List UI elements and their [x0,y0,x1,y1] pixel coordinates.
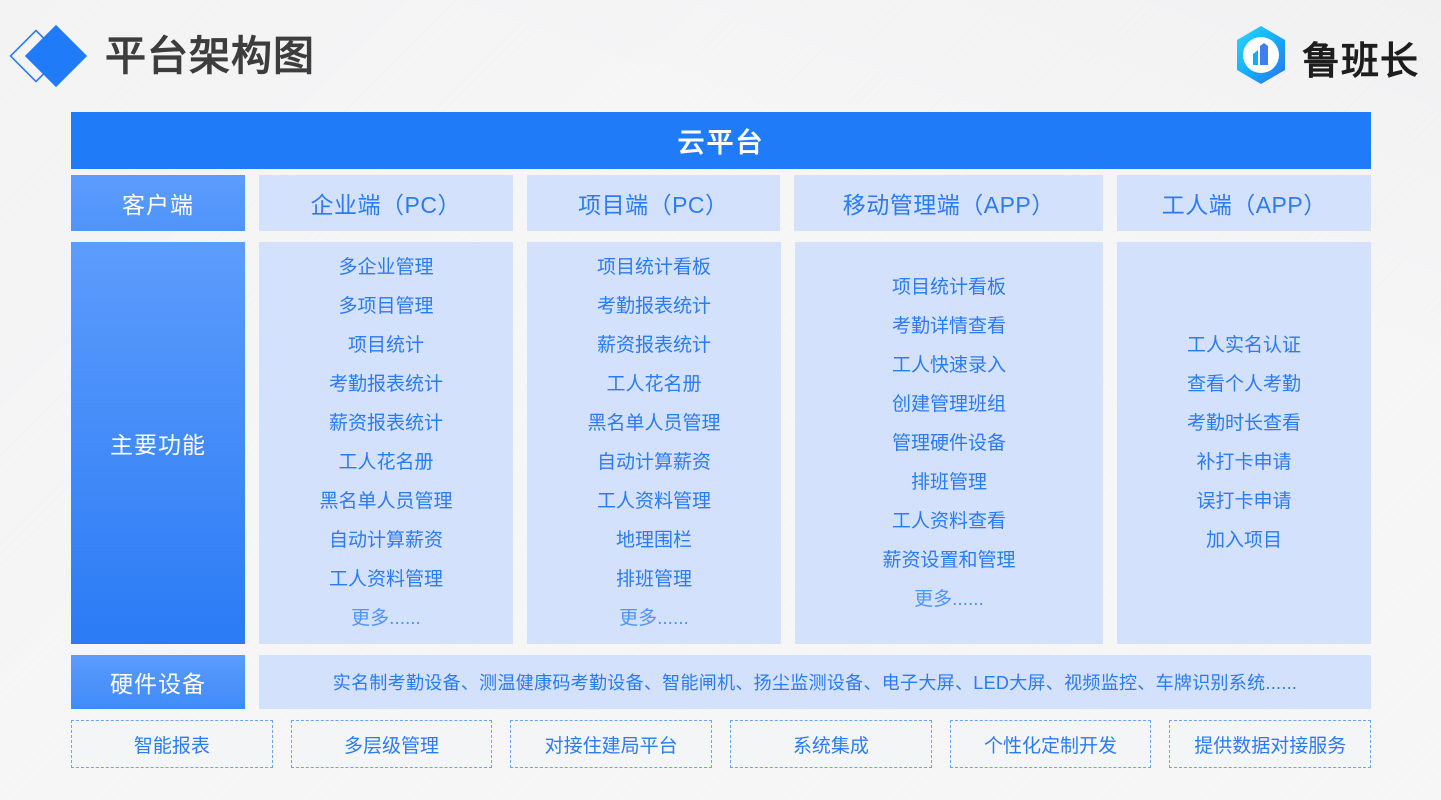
service-chip-govt-platform-integration[interactable]: 对接住建局平台 [510,720,712,768]
service-chip-multilevel-management-label: 多层级管理 [344,731,439,758]
sidebar-label-hardware-text: 硬件设备 [110,665,206,699]
column-header-worker: 工人端（APP） [1117,175,1371,231]
list-item: 排班管理 [616,560,692,599]
hardware-device-list-text: 实名制考勤设备、测温健康码考勤设备、智能闸机、扬尘监测设备、电子大屏、LED大屏… [333,669,1297,695]
column-header-row: 客户端 企业端（PC） 项目端（PC） 移动管理端（APP） 工人端（APP） [71,175,1371,231]
list-item: 薪资设置和管理 [882,541,1015,580]
list-item: 黑名单人员管理 [587,404,720,443]
list-item: 工人花名册 [338,443,433,482]
column-header-project: 项目端（PC） [527,175,781,231]
sidebar-label-main-functions-text: 主要功能 [110,426,206,460]
list-item: 工人实名认证 [1187,326,1301,365]
column-header-worker-text: 工人端（APP） [1162,186,1327,220]
function-list-enterprise: 多企业管理 多项目管理 项目统计 考勤报表统计 薪资报表统计 工人花名册 黑名单… [259,242,513,644]
sidebar-label-main-functions: 主要功能 [71,242,245,644]
column-header-enterprise-text: 企业端（PC） [311,186,461,220]
list-item: 补打卡申请 [1196,443,1291,482]
list-item: 多企业管理 [338,248,433,287]
column-header-enterprise: 企业端（PC） [259,175,513,231]
list-item-more: 更多...... [914,580,984,619]
column-header-project-text: 项目端（PC） [578,186,728,220]
service-chip-system-integration[interactable]: 系统集成 [730,720,932,768]
list-item: 薪资报表统计 [329,404,443,443]
service-chip-multilevel-management[interactable]: 多层级管理 [291,720,493,768]
platform-architecture-diagram: 平台架构图 鲁班 [0,0,1441,800]
function-list-mobile-admin: 项目统计看板 考勤详情查看 工人快速录入 创建管理班组 管理硬件设备 排班管理 … [795,242,1103,644]
sidebar-label-hardware: 硬件设备 [71,655,245,709]
list-item: 项目统计 [348,326,424,365]
service-chip-system-integration-label: 系统集成 [793,731,869,758]
sidebar-label-client-text: 客户端 [122,186,194,220]
service-chip-smart-report[interactable]: 智能报表 [71,720,273,768]
list-item: 考勤时长查看 [1187,404,1301,443]
hexagon-building-icon [1230,24,1292,91]
column-header-mobile-admin: 移动管理端（APP） [794,175,1103,231]
list-item: 自动计算薪资 [597,443,711,482]
service-chip-data-integration-service-label: 提供数据对接服务 [1194,731,1346,758]
list-item: 多项目管理 [338,287,433,326]
service-chip-custom-development[interactable]: 个性化定制开发 [950,720,1152,768]
list-item: 考勤报表统计 [597,287,711,326]
list-item: 管理硬件设备 [892,424,1006,463]
service-chip-row: 智能报表 多层级管理 对接住建局平台 系统集成 个性化定制开发 提供数据对接服务 [71,720,1371,768]
column-header-mobile-admin-text: 移动管理端（APP） [843,186,1055,220]
hardware-row: 硬件设备 实名制考勤设备、测温健康码考勤设备、智能闸机、扬尘监测设备、电子大屏、… [71,655,1371,709]
page-title: 平台架构图 [105,32,315,80]
list-item-more: 更多...... [619,599,689,638]
main-functions-row: 主要功能 多企业管理 多项目管理 项目统计 考勤报表统计 薪资报表统计 工人花名… [71,242,1371,644]
list-item: 创建管理班组 [892,385,1006,424]
list-item: 查看个人考勤 [1187,365,1301,404]
cloud-platform-label: 云平台 [678,121,765,160]
cloud-platform-banner: 云平台 [71,112,1371,169]
list-item: 加入项目 [1206,521,1282,560]
service-chip-smart-report-label: 智能报表 [134,731,210,758]
list-item: 自动计算薪资 [329,521,443,560]
list-item: 薪资报表统计 [597,326,711,365]
list-item: 工人资料管理 [329,560,443,599]
service-chip-govt-platform-integration-label: 对接住建局平台 [545,731,678,758]
brand-name: 鲁班长 [1302,30,1419,85]
list-item: 项目统计看板 [892,268,1006,307]
service-chip-data-integration-service[interactable]: 提供数据对接服务 [1169,720,1371,768]
service-chip-custom-development-label: 个性化定制开发 [984,731,1117,758]
list-item: 黑名单人员管理 [319,482,452,521]
function-list-project: 项目统计看板 考勤报表统计 薪资报表统计 工人花名册 黑名单人员管理 自动计算薪… [527,242,781,644]
list-item: 考勤详情查看 [892,307,1006,346]
list-item: 工人资料查看 [892,502,1006,541]
list-item: 考勤报表统计 [329,365,443,404]
sidebar-label-client: 客户端 [71,175,245,231]
hardware-device-list: 实名制考勤设备、测温健康码考勤设备、智能闸机、扬尘监测设备、电子大屏、LED大屏… [259,655,1371,709]
list-item: 项目统计看板 [597,248,711,287]
list-item: 工人资料管理 [597,482,711,521]
list-item-more: 更多...... [351,599,421,638]
function-list-worker: 工人实名认证 查看个人考勤 考勤时长查看 补打卡申请 误打卡申请 加入项目 [1117,242,1371,644]
list-item: 地理围栏 [616,521,692,560]
brand-logo: 鲁班长 [1230,24,1419,91]
page-header: 平台架构图 鲁班 [0,0,1441,108]
list-item: 工人花名册 [606,365,701,404]
architecture-grid: 客户端 企业端（PC） 项目端（PC） 移动管理端（APP） 工人端（APP） … [71,175,1371,768]
diamond-logo-icon [8,22,108,90]
list-item: 误打卡申请 [1196,482,1291,521]
list-item: 工人快速录入 [892,346,1006,385]
list-item: 排班管理 [911,463,987,502]
